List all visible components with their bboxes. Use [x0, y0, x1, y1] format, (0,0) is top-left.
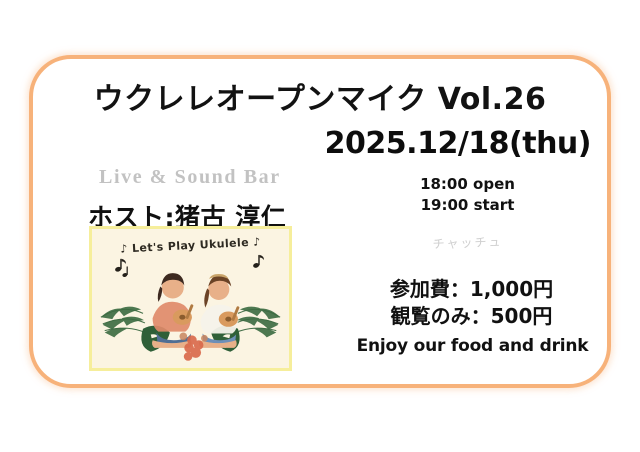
start-time: 19:00 start	[380, 195, 555, 216]
flyer-canvas: Chatchu ウクレレオープンマイク Vol.26 2025.12/18(th…	[0, 0, 640, 452]
pricing-block: 参加費：1,000円 観覧のみ：500円	[364, 276, 579, 330]
ukulele-illustration-card: ♪ Let's Play Ukulele ♪	[89, 226, 292, 371]
event-times: 18:00 open 19:00 start	[380, 174, 555, 216]
open-time: 18:00 open	[380, 174, 555, 195]
page-title: ウクレレオープンマイク Vol.26	[0, 74, 640, 118]
participation-fee: 参加費：1,000円	[364, 276, 579, 303]
tagline: Enjoy our food and drink	[355, 336, 590, 356]
viewing-fee: 観覧のみ：500円	[364, 303, 579, 330]
event-date: 2025.12/18(thu)	[325, 126, 591, 161]
venue-type-label: Live & Sound Bar	[99, 166, 281, 189]
